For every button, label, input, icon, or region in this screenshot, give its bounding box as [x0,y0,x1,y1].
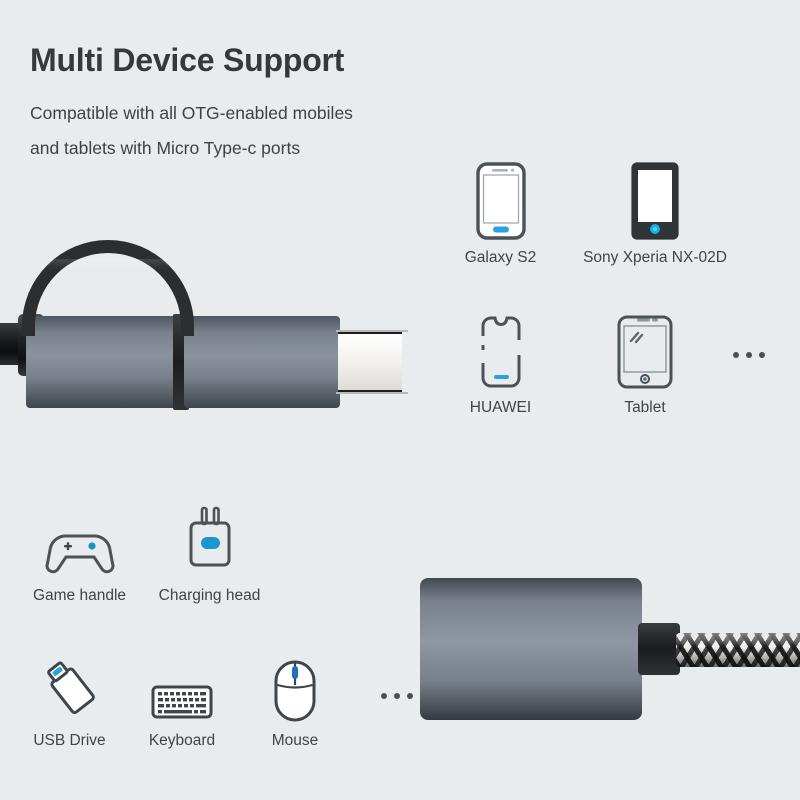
mouse-icon [245,645,345,723]
accessory-keyboard: Keyboard [128,645,236,750]
device-label: HUAWEI [443,399,558,417]
devices-more-indicator [733,352,765,358]
rubber-strap [22,240,194,336]
strain-relief [638,623,680,675]
keyboard-icon [128,645,236,723]
accessory-charging-head: Charging head [152,500,267,605]
braided-cable [676,633,800,667]
metal-housing [420,578,642,720]
device-label: Galaxy S2 [443,249,558,267]
accessory-label: Mouse [245,732,345,750]
two-in-one-plug-image [0,238,440,403]
usb-a-female-housing-image [420,578,800,728]
usb-drive-icon [12,645,127,723]
accessory-label: Game handle [22,587,137,605]
tablet-icon [590,312,700,390]
phone-xperia-icon [570,162,740,240]
device-tablet: Tablet [590,312,700,417]
phone-galaxy-icon [443,162,558,240]
gamepad-icon [22,500,137,578]
page-title: Multi Device Support [30,42,344,79]
device-label: Tablet [590,399,700,417]
accessory-usb-drive: USB Drive [12,645,127,750]
accessory-label: Charging head [152,587,267,605]
subtitle-line-1: Compatible with all OTG-enabled mobiles [30,103,353,124]
device-sony-xperia: Sony Xperia NX-02D [570,162,740,267]
product-infographic: Multi Device Support Compatible with all… [0,0,800,800]
accessory-label: Keyboard [128,732,236,750]
usb-c-segment [184,316,340,408]
charger-icon [152,500,267,578]
accessories-more-indicator [381,693,413,699]
subtitle-line-2: and tablets with Micro Type-c ports [30,138,300,159]
accessory-label: USB Drive [12,732,127,750]
accessory-mouse: Mouse [245,645,345,750]
device-galaxy-s2: Galaxy S2 [443,162,558,267]
device-huawei: HUAWEI [443,312,558,417]
accessory-game-handle: Game handle [22,500,137,605]
device-label: Sony Xperia NX-02D [570,249,740,267]
usb-c-tip [338,330,402,394]
phone-huawei-icon [443,312,558,390]
